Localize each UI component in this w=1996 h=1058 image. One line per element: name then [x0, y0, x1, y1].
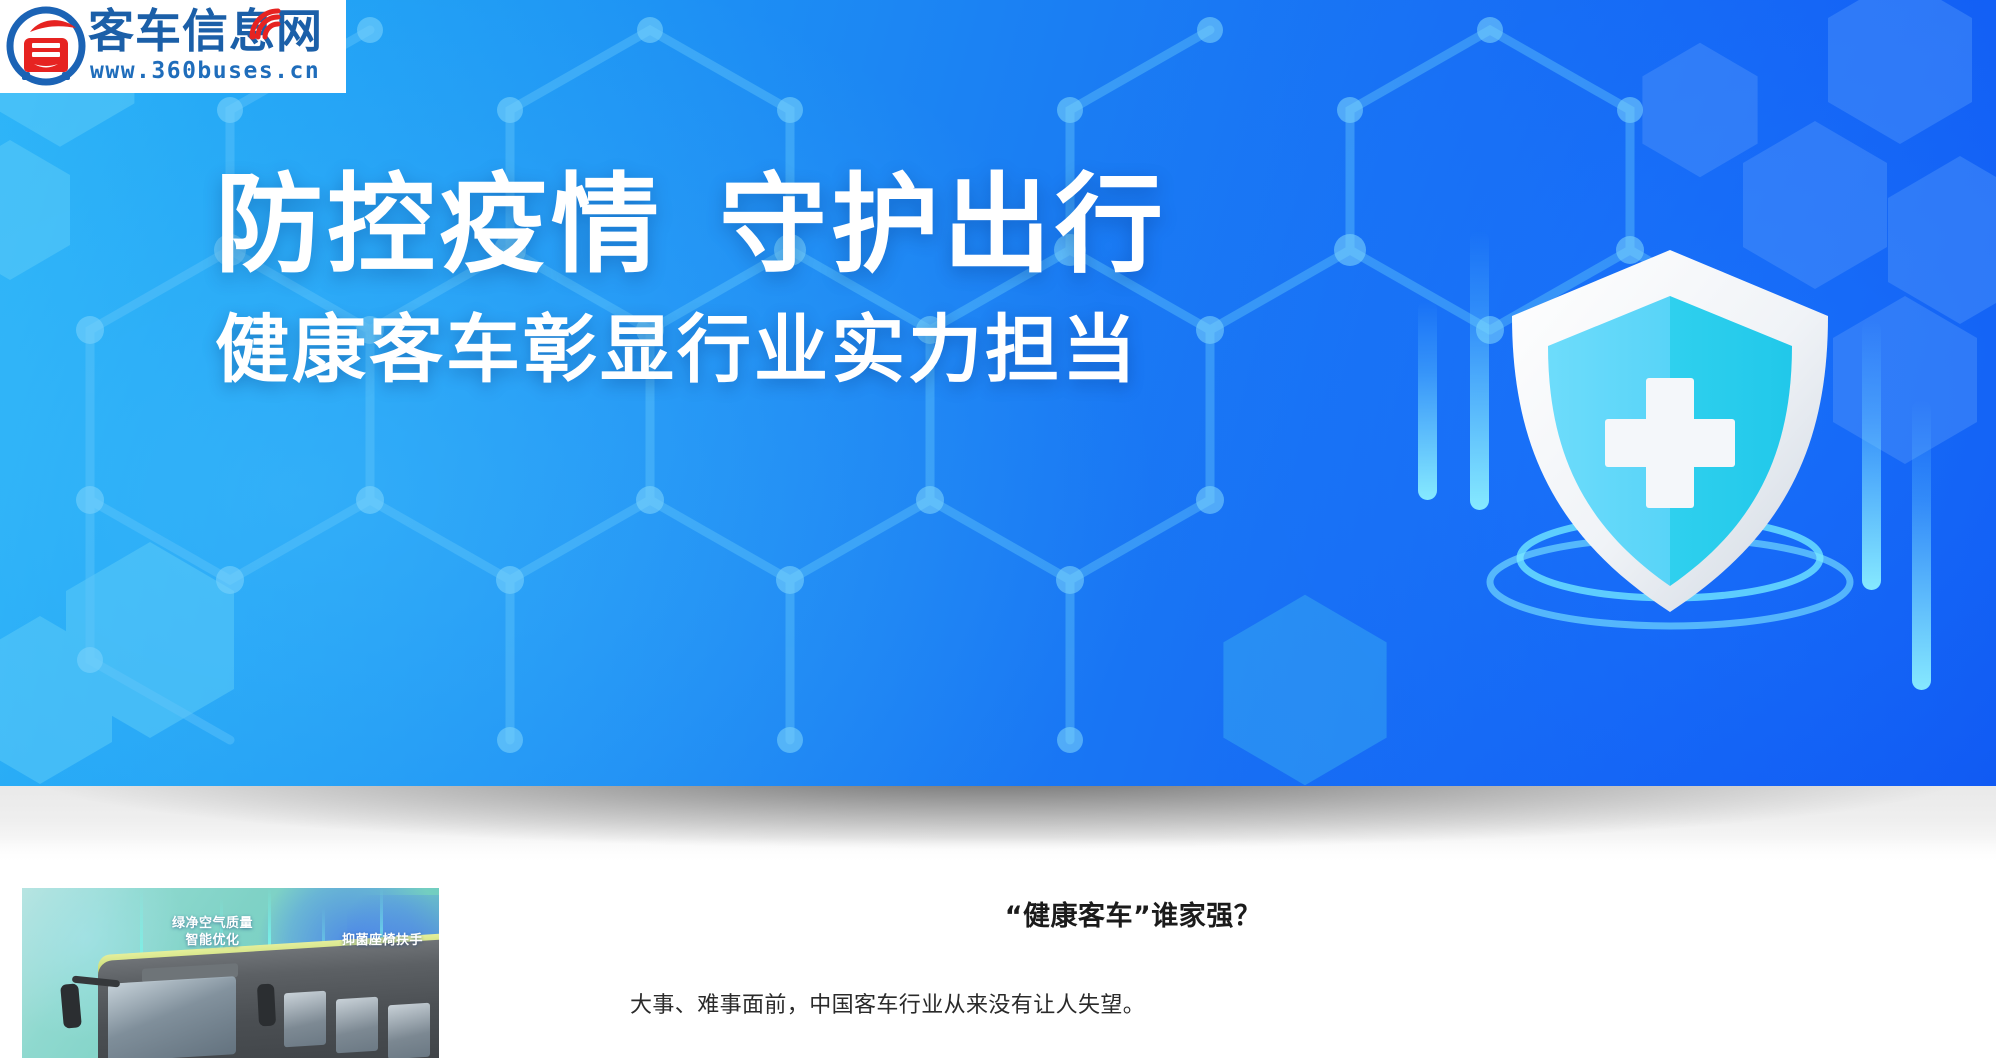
banner-subheadline: 健康客车彰显行业实力担当: [215, 310, 1139, 391]
banner-bottom-shadow: [0, 786, 1996, 864]
bus-windshield: [108, 976, 236, 1058]
light-bar: [1418, 300, 1437, 500]
overlay-label-1-line-2: 智能优化: [172, 932, 253, 949]
banner-headline: 防控疫情守护出行: [215, 168, 1167, 285]
hero-banner: 防控疫情守护出行 健康客车彰显行业实力担当: [0, 0, 1996, 786]
bus-window: [284, 991, 326, 1047]
bus-mirror-right: [257, 984, 276, 1027]
bus-mirror-left: [60, 983, 82, 1028]
site-logo[interactable]: 客车信息网 www.360buses.cn: [0, 0, 346, 93]
headline-part-2: 守护出行: [719, 163, 1167, 288]
headline-part-1: 防控疫情: [215, 163, 663, 288]
bus-window: [336, 997, 378, 1053]
photo-overlay-label-2: 抑菌座椅扶手: [342, 932, 423, 949]
light-bar: [1862, 320, 1881, 590]
bus-window: [388, 1003, 430, 1058]
shield-medical-cross-icon: [1480, 240, 1860, 640]
bus-circle-icon: [6, 6, 86, 86]
page-root: 防控疫情守护出行 健康客车彰显行业实力担当: [0, 0, 1996, 1058]
logo-url-text: www.360buses.cn: [90, 58, 320, 84]
article-title: “健康客车”谁家强？: [0, 894, 1996, 933]
light-bar: [1912, 400, 1931, 690]
wifi-signal-icon: [242, 1, 284, 43]
article-paragraph: 大事、难事面前，中国客车行业从来没有让人失望。: [630, 988, 1145, 1023]
logo-text-cn: 客车信息网: [88, 4, 323, 58]
article-section: 绿净空气质量 智能优化 抑菌座椅扶手 “健康客车”谁家强？ 大事、难事面前，中国…: [0, 864, 1996, 1058]
